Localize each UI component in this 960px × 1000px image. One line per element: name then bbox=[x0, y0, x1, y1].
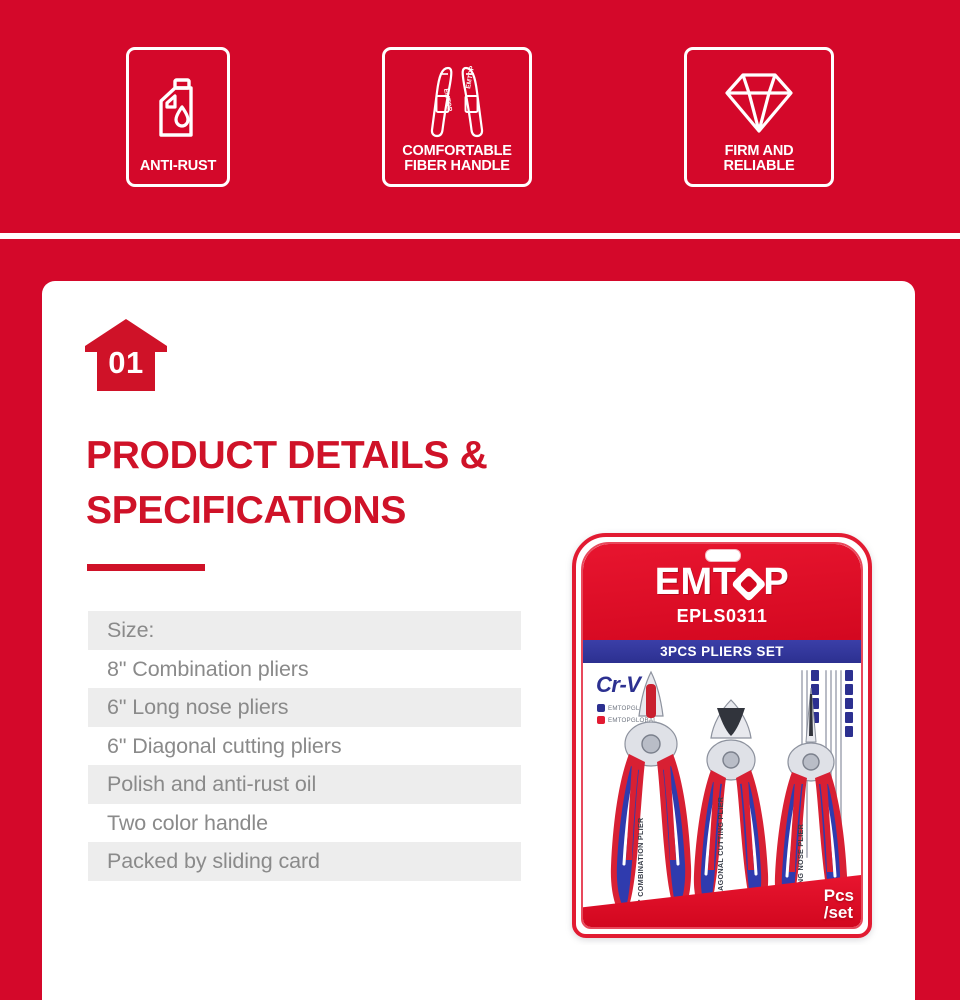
spec-row: 8" Combination pliers bbox=[88, 650, 521, 689]
heading-underline bbox=[87, 564, 205, 571]
content-card: 01 PRODUCT DETAILS & SPECIFICATIONS Size… bbox=[42, 281, 915, 1000]
page-title-line1: PRODUCT DETAILS & bbox=[86, 428, 556, 483]
product-package-image: EMTP EPLS0311 3PCS PLIERS SET Cr-V EMTOP… bbox=[530, 525, 915, 945]
model-code: EPLS0311 bbox=[583, 606, 861, 627]
pcs-badge-line2: /set bbox=[824, 904, 854, 921]
pcs-badge-line1: Pcs bbox=[824, 887, 854, 904]
brand-logo: EMTP bbox=[583, 562, 861, 602]
page-title: PRODUCT DETAILS & SPECIFICATIONS bbox=[86, 428, 556, 538]
band-divider bbox=[0, 233, 960, 239]
feature-label: FIRM AND RELIABLE bbox=[724, 144, 795, 184]
feature-anti-rust: ANTI-RUST bbox=[126, 47, 230, 187]
plier-handles-icon: EMTOP EMTOP bbox=[385, 60, 529, 144]
spec-row: Size: bbox=[88, 611, 521, 650]
brand-logo-text-2: P bbox=[763, 561, 789, 603]
section-number: 01 bbox=[85, 345, 167, 381]
feature-list: ANTI-RUST EMTOP EMTOP COMFORTABLE F bbox=[0, 0, 960, 233]
section-number-badge: 01 bbox=[85, 319, 167, 391]
feature-firm-and-reliable: FIRM AND RELIABLE bbox=[684, 47, 834, 187]
brand-logo-text-1: EMT bbox=[655, 561, 737, 603]
set-title: 3PCS PLIERS SET bbox=[660, 644, 784, 659]
feature-label: ANTI-RUST bbox=[140, 159, 216, 184]
spec-row: Packed by sliding card bbox=[88, 842, 521, 881]
blister-pack: EMTP EPLS0311 3PCS PLIERS SET Cr-V EMTOP… bbox=[572, 533, 872, 938]
pcs-per-set-badge: Pcs /set bbox=[824, 887, 854, 921]
blister-inner: EMTP EPLS0311 3PCS PLIERS SET Cr-V EMTOP… bbox=[581, 542, 863, 929]
set-title-bar: 3PCS PLIERS SET bbox=[583, 640, 861, 663]
oil-can-icon bbox=[129, 60, 227, 160]
feature-label: COMFORTABLE FIBER HANDLE bbox=[402, 144, 512, 184]
feature-band: ANTI-RUST EMTOP EMTOP COMFORTABLE F bbox=[0, 0, 960, 233]
feature-comfortable-fiber-handle: EMTOP EMTOP COMFORTABLE FIBER HANDLE bbox=[382, 47, 532, 187]
brand-diamond-icon bbox=[732, 567, 767, 602]
spec-row: 6" Diagonal cutting pliers bbox=[88, 727, 521, 766]
diamond-icon bbox=[687, 60, 831, 144]
spec-row: Polish and anti-rust oil bbox=[88, 765, 521, 804]
spec-row: Two color handle bbox=[88, 804, 521, 843]
combination-pliers: 8" COMBINATION PLIER bbox=[605, 670, 697, 927]
page-title-line2: SPECIFICATIONS bbox=[86, 483, 556, 538]
specification-list: Size: 8" Combination pliers 6" Long nose… bbox=[88, 611, 521, 881]
product-detail-page: ANTI-RUST EMTOP EMTOP COMFORTABLE F bbox=[0, 0, 960, 1000]
tool-label: 8" COMBINATION PLIER bbox=[636, 817, 645, 907]
svg-text:EMTOP: EMTOP bbox=[442, 88, 453, 113]
spec-row: 6" Long nose pliers bbox=[88, 688, 521, 727]
